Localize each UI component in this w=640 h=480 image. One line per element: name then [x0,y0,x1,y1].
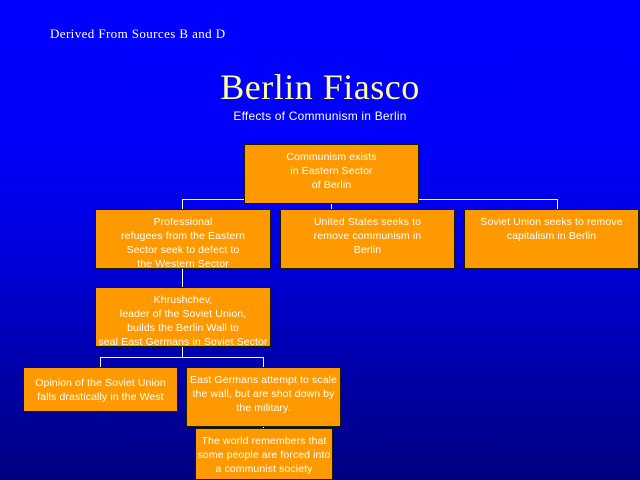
flowchart-node-soviet-union-capitalism[interactable]: Soviet Union seeks to remove capitalism … [464,209,639,269]
flowchart-node-soviet-opinion-falls[interactable]: Opinion of the Soviet Union falls drasti… [23,367,178,412]
connector-row4-bar [100,357,264,358]
flowchart-node-east-germans-scale-wall[interactable]: East Germans attempt to scale the wall, … [186,367,341,427]
flowchart-node-khrushchev-berlin-wall[interactable]: Khrushchev, leader of the Soviet Union, … [95,287,271,347]
page-title: Berlin Fiasco [0,66,640,108]
flowchart-node-world-remembers[interactable]: The world remembers that some people are… [195,428,333,480]
flowchart-node-soviet-opinion-falls-text: Opinion of the Soviet Union falls drasti… [24,376,177,404]
flowchart-node-professional-refugees[interactable]: Professional refugees from the Eastern S… [95,209,271,269]
flowchart-node-communism-exists[interactable]: Communism exists in Eastern Sector of Be… [244,144,419,204]
source-note: Derived From Sources B and D [50,26,225,42]
connector-refugee-to-wall [182,269,183,288]
slide-subtitle: Effects of Communism in Berlin [0,109,640,123]
presentation-slide: Derived From Sources B and D Berlin Fias… [0,0,640,480]
flowchart-node-united-states[interactable]: United States seeks to remove communism … [280,209,455,269]
